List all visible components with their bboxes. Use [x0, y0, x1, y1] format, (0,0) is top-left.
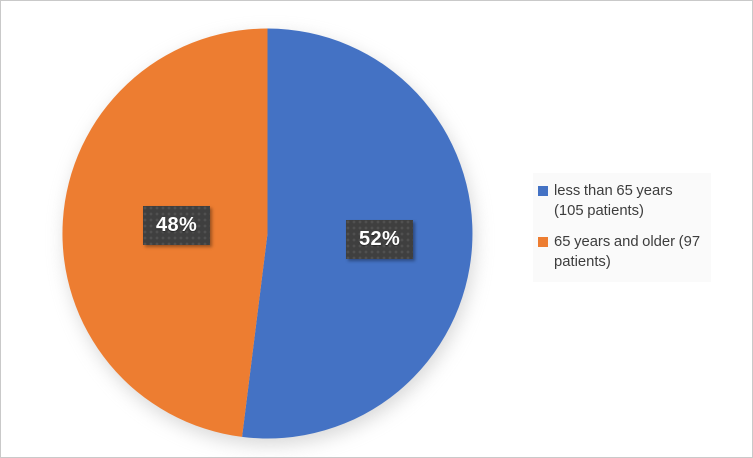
legend-label-less-than-65: less than 65 years (105 patients) [554, 181, 705, 222]
chart-legend: less than 65 years (105 patients) 65 yea… [533, 173, 711, 282]
pie-chart-frame: 48% 52% less than 65 years (105 patients… [0, 0, 753, 458]
legend-item-less-than-65[interactable]: less than 65 years (105 patients) [533, 181, 711, 222]
legend-label-65-and-older: 65 years and older (97 patients) [554, 232, 705, 273]
data-label-65-and-older: 48% [143, 206, 210, 245]
legend-swatch-orange-icon [538, 237, 548, 247]
legend-item-65-and-older[interactable]: 65 years and older (97 patients) [533, 232, 711, 273]
chart-plot-area: 48% 52% [1, 1, 521, 458]
data-label-less-than-65: 52% [346, 220, 413, 259]
legend-swatch-blue-icon [538, 186, 548, 196]
